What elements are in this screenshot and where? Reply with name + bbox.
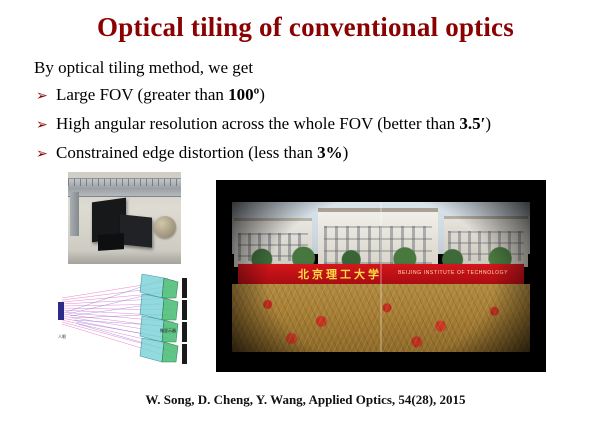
arrow-bullet-icon: ➢ [36, 144, 56, 166]
list-item: ➢ High angular resolution across the who… [36, 113, 596, 137]
optical-layout-raytrace-diagram: 人眼 微显示器 [56, 268, 204, 368]
raytrace-svg: 人眼 微显示器 [56, 268, 204, 368]
arrow-bullet-icon: ➢ [36, 86, 56, 108]
prism-part-2 [120, 214, 152, 247]
prism-parts-with-caliper-photo [68, 172, 181, 264]
microdisplay-panels [182, 278, 187, 364]
caliper-scale-ticks [68, 179, 181, 186]
list-item: ➢ Large FOV (greater than 100º) [36, 84, 596, 108]
eye-pupil-block [58, 302, 64, 320]
tiling-seam [380, 202, 382, 352]
slide: Optical tiling of conventional optics By… [0, 0, 611, 431]
photo-scene: 北京理工大学 BEIJING INSTITUTE OF TECHNOLOGY [232, 202, 530, 352]
bullet-list: ➢ Large FOV (greater than 100º) ➢ High a… [36, 84, 596, 171]
tiled-fov-display-photo: 北京理工大学 BEIJING INSTITUTE OF TECHNOLOGY [216, 180, 546, 372]
lead-text: By optical tiling method, we get [34, 58, 253, 78]
diagram-label-display: 微显示器 [160, 327, 176, 333]
list-item-text: Large FOV (greater than 100º) [56, 84, 596, 106]
list-item-text: Constrained edge distortion (less than 3… [56, 142, 596, 164]
list-item: ➢ Constrained edge distortion (less than… [36, 142, 596, 166]
coin-scale-reference [154, 216, 176, 238]
diagram-label-eye: 人眼 [58, 334, 66, 339]
citation-text: W. Song, D. Cheng, Y. Wang, Applied Opti… [0, 392, 611, 408]
list-item-text: High angular resolution across the whole… [56, 113, 596, 135]
photo-shadow [68, 250, 181, 264]
prism-part-3 [98, 233, 124, 251]
page-title: Optical tiling of conventional optics [0, 12, 611, 43]
freeform-prism-elements [140, 274, 178, 362]
banner-secondary-text: BEIJING INSTITUTE OF TECHNOLOGY [398, 270, 508, 276]
caliper-jaw [70, 192, 79, 236]
arrow-bullet-icon: ➢ [36, 115, 56, 137]
banner-primary-text: 北京理工大学 [298, 266, 382, 282]
